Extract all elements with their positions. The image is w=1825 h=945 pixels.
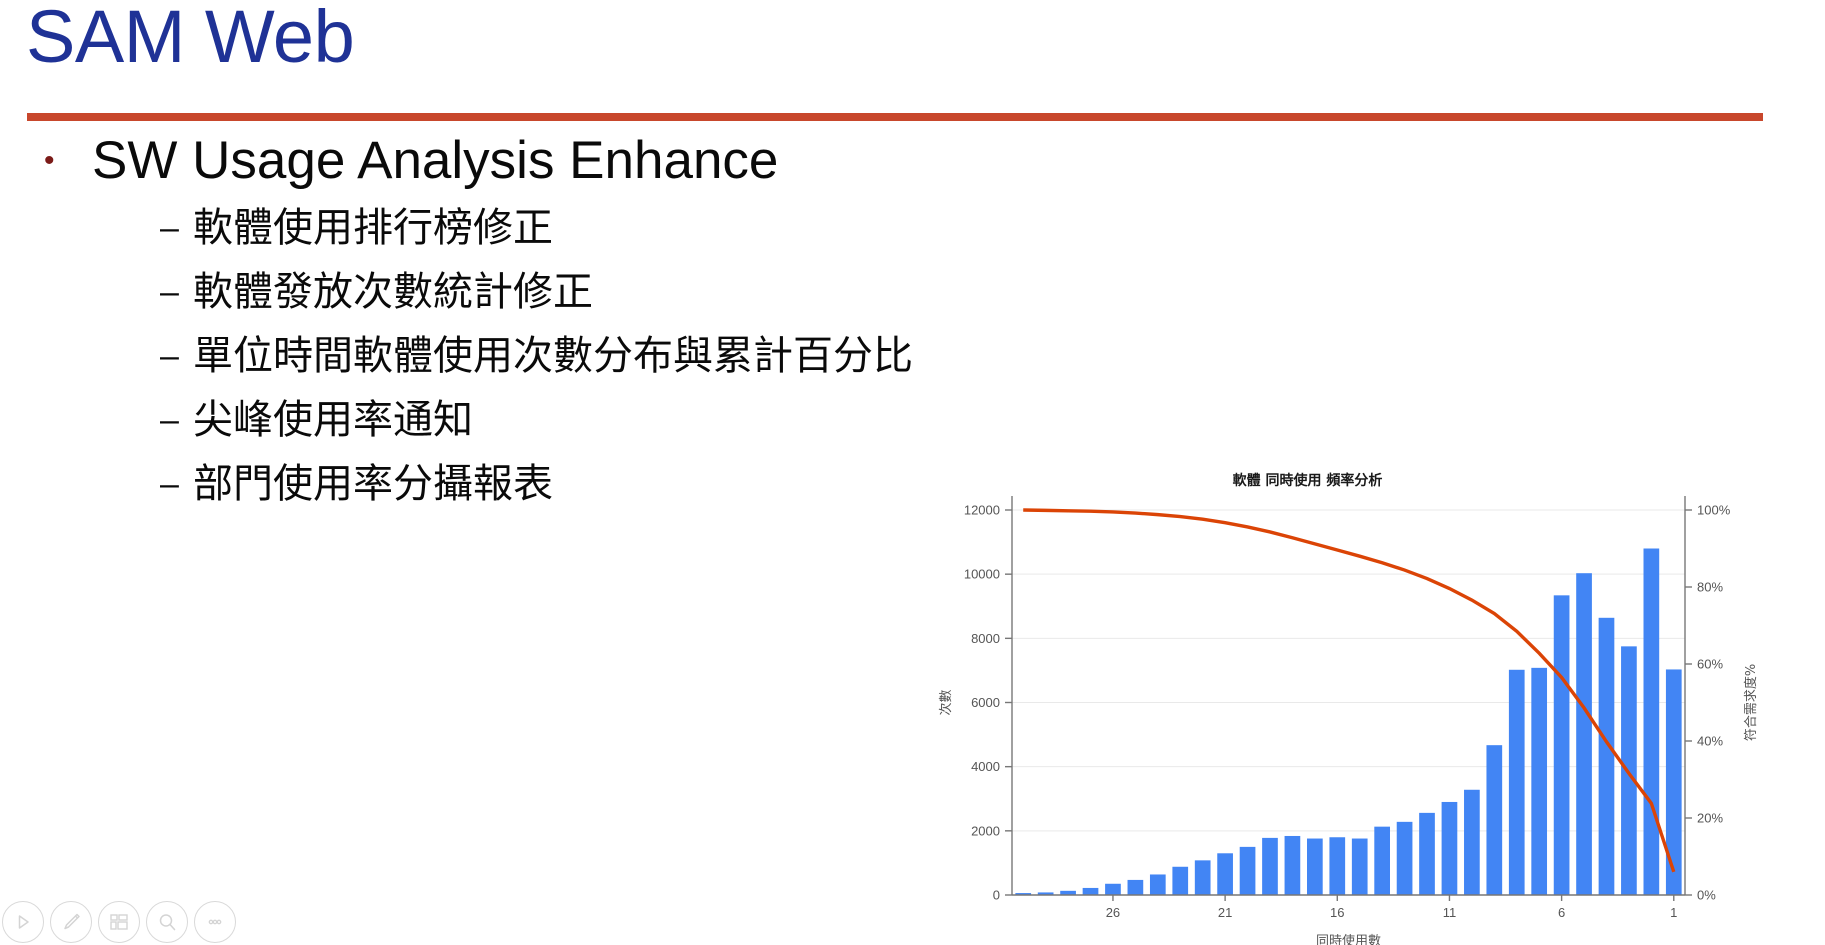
chart-bar bbox=[1150, 874, 1166, 895]
y2-axis-tick-label: 40% bbox=[1697, 734, 1723, 749]
chart-bar bbox=[1531, 668, 1547, 895]
list-item: – 尖峰使用率通知 bbox=[30, 392, 1210, 449]
chart-bar bbox=[1105, 884, 1121, 895]
list-item-label: 部門使用率分攝報表 bbox=[193, 456, 553, 513]
play-icon bbox=[13, 912, 33, 932]
list-item: • SW Usage Analysis Enhance bbox=[30, 128, 1210, 194]
magnifier-icon bbox=[156, 911, 178, 933]
chart-bar bbox=[1285, 836, 1301, 895]
chart-bar bbox=[1666, 669, 1682, 895]
x-axis-tick-label: 1 bbox=[1670, 905, 1677, 920]
chart-bar bbox=[1554, 595, 1570, 895]
pen-icon bbox=[60, 911, 82, 933]
more-options-button[interactable] bbox=[194, 901, 236, 943]
y2-axis-tick-label: 100% bbox=[1697, 503, 1731, 518]
play-button[interactable] bbox=[2, 901, 44, 943]
usage-frequency-chart: 軟體 同時使用 頻率分析 020004000600080001000012000… bbox=[880, 470, 1825, 945]
cumulative-line-path bbox=[1023, 510, 1674, 872]
y-axis-tick-label: 8000 bbox=[971, 631, 1000, 646]
chart-bar bbox=[1352, 839, 1368, 895]
chart-bar bbox=[1172, 867, 1188, 895]
y-axis-tick-label: 6000 bbox=[971, 695, 1000, 710]
chart-bar bbox=[1644, 549, 1660, 896]
x-axis-title: 同時使用數 bbox=[1316, 933, 1381, 945]
ellipsis-icon bbox=[203, 910, 227, 934]
bullet-marker: – bbox=[30, 456, 193, 513]
chart-bar bbox=[1217, 853, 1233, 895]
y2-axis-tick-label: 20% bbox=[1697, 811, 1723, 826]
layout-button[interactable] bbox=[98, 901, 140, 943]
bullet-marker: – bbox=[30, 264, 193, 321]
y-axis-tick-label: 2000 bbox=[971, 823, 1000, 838]
y-axis-tick-label: 12000 bbox=[964, 503, 1000, 518]
chart-canvas: 0200040006000800010000120000%20%40%60%80… bbox=[880, 470, 1825, 945]
chart-bar bbox=[1576, 573, 1592, 895]
y-axis-tick-label: 4000 bbox=[971, 759, 1000, 774]
chart-bar bbox=[1419, 813, 1435, 895]
y2-axis-tick-label: 0% bbox=[1697, 888, 1716, 903]
slide-toolbar bbox=[2, 901, 236, 943]
zoom-button[interactable] bbox=[146, 901, 188, 943]
chart-bar bbox=[1083, 888, 1099, 895]
list-item: – 軟體使用排行榜修正 bbox=[30, 200, 1210, 257]
y2-axis-tick-label: 80% bbox=[1697, 580, 1723, 595]
list-item-label: 軟體發放次數統計修正 bbox=[193, 264, 593, 321]
chart-bars bbox=[1015, 549, 1681, 896]
list-item: – 軟體發放次數統計修正 bbox=[30, 264, 1210, 321]
chart-bar bbox=[1262, 838, 1278, 895]
chart-bar bbox=[1442, 802, 1458, 895]
layout-icon bbox=[108, 911, 130, 933]
y2-axis-tick-label: 60% bbox=[1697, 657, 1723, 672]
chart-bar bbox=[1329, 837, 1345, 895]
chart-bar bbox=[1397, 822, 1413, 895]
x-axis-tick-label: 21 bbox=[1218, 905, 1232, 920]
list-item: – 單位時間軟體使用次數分布與累計百分比 bbox=[30, 328, 1210, 385]
chart-bar bbox=[1486, 745, 1502, 895]
list-item-label: 尖峰使用率通知 bbox=[193, 392, 473, 449]
chart-bar bbox=[1195, 860, 1211, 895]
bullet-marker: – bbox=[30, 392, 193, 449]
list-item-label: SW Usage Analysis Enhance bbox=[92, 128, 778, 194]
x-axis-tick-label: 6 bbox=[1558, 905, 1565, 920]
bullet-marker: – bbox=[30, 328, 193, 385]
chart-bar bbox=[1464, 790, 1480, 895]
chart-bar bbox=[1509, 670, 1525, 895]
chart-bar bbox=[1307, 839, 1323, 895]
ink-button[interactable] bbox=[50, 901, 92, 943]
chart-bar bbox=[1240, 847, 1256, 895]
bullet-marker: • bbox=[30, 128, 92, 194]
y-axis-tick-label: 10000 bbox=[964, 567, 1000, 582]
list-item-label: 軟體使用排行榜修正 bbox=[193, 200, 553, 257]
page-title: SAM Web bbox=[26, 0, 354, 79]
title-divider bbox=[27, 113, 1763, 121]
x-axis-tick-label: 26 bbox=[1106, 905, 1120, 920]
bullet-marker: – bbox=[30, 200, 193, 257]
x-axis-tick-label: 11 bbox=[1443, 905, 1457, 920]
x-axis-tick-label: 16 bbox=[1330, 905, 1344, 920]
bullet-list: • SW Usage Analysis Enhance – 軟體使用排行榜修正 … bbox=[30, 128, 1210, 520]
chart-cumulative-line bbox=[1023, 510, 1674, 872]
y-axis-tick-label: 0 bbox=[993, 888, 1000, 903]
y-axis-title: 次數 bbox=[938, 689, 954, 715]
y2-axis-title: 符合需求度% bbox=[1743, 664, 1759, 741]
list-item-label: 單位時間軟體使用次數分布與累計百分比 bbox=[193, 328, 913, 385]
chart-bar bbox=[1599, 618, 1615, 895]
chart-bar bbox=[1128, 880, 1144, 895]
chart-bar bbox=[1374, 827, 1390, 895]
